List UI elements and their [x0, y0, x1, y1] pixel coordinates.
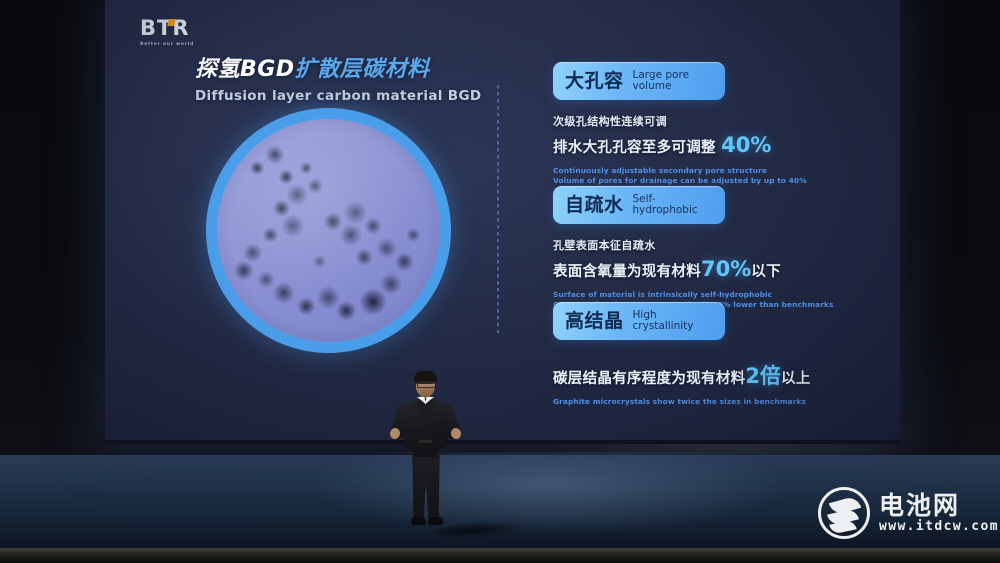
presenter-belt [419, 440, 432, 443]
presenter-glasses [417, 381, 436, 388]
presenter-person [383, 371, 467, 547]
conference-stage-photo: B T R Better our world 探氢BGD扩散层碳材料 Diffu… [0, 0, 1000, 563]
watermark-globe-icon [818, 487, 870, 539]
screen-bottom-edge [105, 440, 900, 444]
presenter-right-shoe [428, 517, 443, 525]
presentation-screen: B T R Better our world 探氢BGD扩散层碳材料 Diffu… [105, 0, 900, 444]
stage-front-edge [0, 548, 1000, 563]
presenter-trousers [411, 453, 441, 519]
watermark-brand-name: 电池网 [879, 492, 999, 519]
presenter-left-shoe [411, 517, 426, 525]
screen-vignette [105, 0, 900, 444]
watermark-url: www.itdcw.com [879, 520, 999, 534]
floor-light-pool [230, 452, 870, 563]
site-watermark: 电池网 www.itdcw.com [818, 487, 999, 539]
watermark-text: 电池网 www.itdcw.com [879, 492, 999, 534]
